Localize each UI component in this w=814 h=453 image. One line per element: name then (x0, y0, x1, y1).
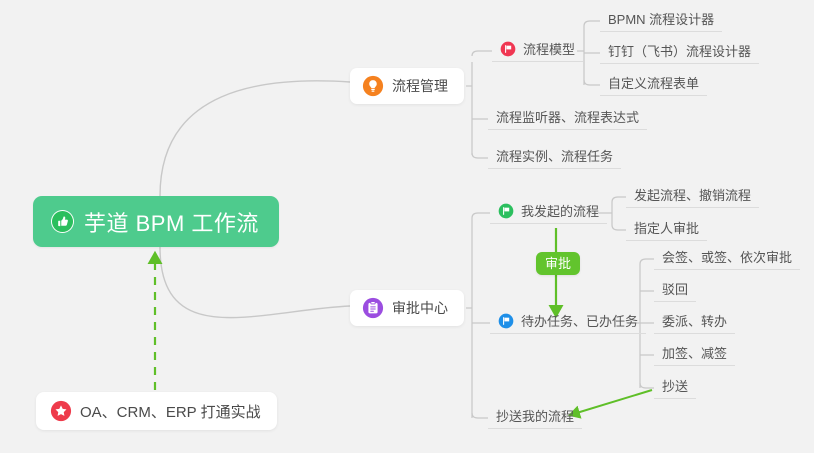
link-to-custom-form (584, 80, 600, 85)
label-start-cancel-process: 发起流程、撤销流程 (634, 185, 751, 204)
link-to-my-initiated-process (472, 213, 490, 218)
label-process-instance-task: 流程实例、流程任务 (496, 146, 613, 165)
root-node[interactable]: 芋道 BPM 工作流 (33, 196, 279, 247)
link-to-process-instance (472, 153, 488, 158)
approval-badge[interactable]: 审批 (536, 252, 580, 275)
node-process-model[interactable]: 流程模型 (492, 40, 583, 62)
node-process-instance-task[interactable]: 流程实例、流程任务 (488, 147, 621, 169)
branch-node-process-management[interactable]: 流程管理 (350, 68, 464, 104)
label-process-listener-expression: 流程监听器、流程表达式 (496, 107, 639, 126)
branch-label-approval-center: 审批中心 (392, 298, 448, 318)
node-integration-practice[interactable]: OA、CRM、ERP 打通实战 (36, 392, 277, 430)
node-countersign-orsign-sequential[interactable]: 会签、或签、依次审批 (654, 248, 800, 270)
link-to-cc-to-me-process (472, 413, 488, 418)
branch-label-process-management: 流程管理 (392, 76, 448, 96)
label-integration-practice: OA、CRM、ERP 打通实战 (80, 401, 261, 422)
node-todo-done-task[interactable]: 待办任务、已办任务 (490, 312, 646, 334)
label-custom-process-form: 自定义流程表单 (608, 73, 699, 92)
label-reject: 驳回 (662, 279, 688, 298)
link-to-process-model (472, 51, 492, 56)
lightbulb-icon (362, 75, 384, 97)
label-cc-to-me-process: 抄送我的流程 (496, 406, 574, 425)
node-delegate-transfer[interactable]: 委派、转办 (654, 312, 735, 334)
label-delegate-transfer: 委派、转办 (662, 311, 727, 330)
link-root-to-approval-center (160, 247, 350, 318)
link-root-to-process-management (160, 81, 350, 196)
root-label: 芋道 BPM 工作流 (84, 206, 259, 238)
node-start-cancel-process[interactable]: 发起流程、撤销流程 (626, 186, 759, 208)
node-custom-process-form[interactable]: 自定义流程表单 (600, 74, 707, 96)
link-to-bpmn-designer (584, 21, 600, 26)
clipboard-icon (362, 297, 384, 319)
link-to-cc (640, 383, 654, 388)
link-to-start-cancel (612, 197, 626, 202)
label-countersign-orsign-sequential: 会签、或签、依次审批 (662, 247, 792, 266)
flag-icon (498, 313, 514, 329)
label-my-initiated-process: 我发起的流程 (521, 201, 599, 220)
node-add-remove-sign[interactable]: 加签、减签 (654, 344, 735, 366)
mindmap-canvas: 芋道 BPM 工作流 流程管理 流程模型 BPMN 流程设计器 钉钉（飞书 (0, 0, 814, 453)
node-reject[interactable]: 驳回 (654, 280, 696, 302)
thumbs-up-icon (51, 210, 74, 233)
star-icon (50, 400, 72, 422)
node-my-initiated-process[interactable]: 我发起的流程 (490, 202, 607, 224)
label-todo-done-task: 待办任务、已办任务 (521, 311, 638, 330)
node-bpmn-designer[interactable]: BPMN 流程设计器 (600, 10, 722, 32)
link-to-assignee-approval (612, 225, 626, 230)
label-cc: 抄送 (662, 376, 688, 395)
label-assignee-approval: 指定人审批 (634, 218, 699, 237)
label-add-remove-sign: 加签、减签 (662, 343, 727, 362)
node-process-listener-expression[interactable]: 流程监听器、流程表达式 (488, 108, 647, 130)
flag-icon (498, 203, 514, 219)
node-cc-to-me-process[interactable]: 抄送我的流程 (488, 407, 582, 429)
node-assignee-approval[interactable]: 指定人审批 (626, 219, 707, 241)
branch-node-approval-center[interactable]: 审批中心 (350, 290, 464, 326)
label-process-model: 流程模型 (523, 39, 575, 58)
link-to-countersign (640, 259, 654, 264)
cc-flow-arrow (570, 390, 652, 415)
flag-icon (500, 41, 516, 57)
node-dingtalk-feishu-designer[interactable]: 钉钉（飞书）流程设计器 (600, 42, 759, 64)
node-cc[interactable]: 抄送 (654, 377, 696, 399)
label-dingtalk-feishu-designer: 钉钉（飞书）流程设计器 (608, 41, 751, 60)
label-bpmn-designer: BPMN 流程设计器 (608, 9, 714, 28)
